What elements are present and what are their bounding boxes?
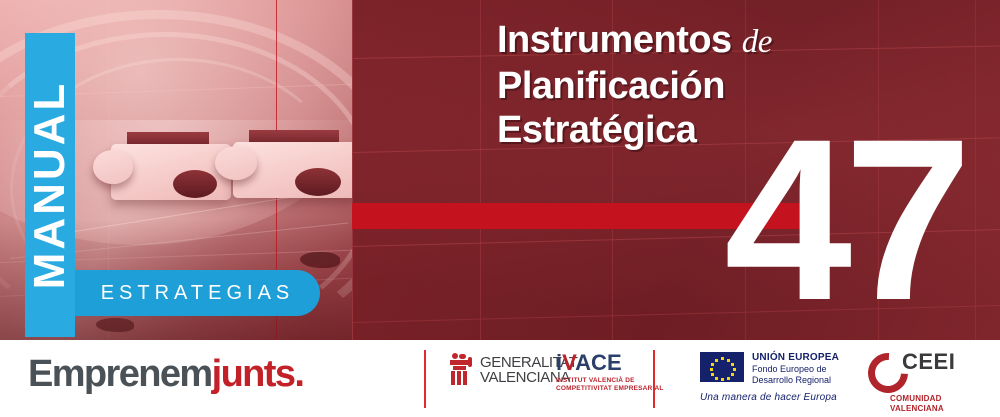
title-line-1: Instrumentos de [497, 18, 967, 64]
ivace-wordmark: iVACE [556, 352, 664, 374]
manual-label: MANUAL [25, 81, 75, 290]
ivace-sub-line-2: COMPETITIVITAT EMPRESARIAL [556, 385, 664, 393]
title-word-instrumentos: Instrumentos [497, 19, 732, 61]
eu-title: UNIÓN EUROPEA [752, 352, 839, 364]
emprenemjunts-logo[interactable]: Emprenemjunts. [28, 353, 303, 396]
cover-page: MANUAL ESTRATEGIAS Instrumentos de Plani… [0, 0, 1000, 417]
generalitat-crest-icon [448, 353, 474, 387]
footer-bar: Emprenemjunts. GENERALITAT VALENCIANA iV… [0, 340, 1000, 417]
manual-side-band: MANUAL [25, 33, 75, 337]
ceei-region-line-2: VALENCIANA [890, 404, 969, 413]
title-word-de: de [742, 24, 772, 60]
ivace-letter-v: V [562, 350, 575, 375]
ceei-wordmark: CEEI [902, 351, 955, 373]
eu-tagline: Una manera de hacer Europa [700, 392, 839, 403]
eu-sub-line-2: Desarrollo Regional [752, 375, 839, 386]
estrategias-label: ESTRATEGIAS [101, 282, 295, 305]
issue-number: 47 [724, 120, 964, 320]
estrategias-badge: ESTRATEGIAS [75, 270, 320, 316]
ivace-sub-line-1: INSTITUT VALENCIÀ DE [556, 377, 664, 385]
brand-part-junts: junts. [212, 353, 304, 395]
european-union-logo[interactable]: UNIÓN EUROPEA Fondo Europeo de Desarroll… [700, 352, 839, 403]
eu-flag-icon [700, 352, 744, 382]
ivace-subtitle: INSTITUT VALENCIÀ DE COMPETITIVITAT EMPR… [556, 377, 664, 393]
ceei-region-line-1: COMUNIDAD [890, 394, 969, 403]
eu-sub-line-1: Fondo Europeo de [752, 364, 839, 375]
footer-divider-1 [424, 350, 426, 408]
brand-part-emprenem: Emprenem [28, 353, 212, 395]
footer-divider-2 [653, 350, 655, 408]
ivace-logo[interactable]: iVACE INSTITUT VALENCIÀ DE COMPETITIVITA… [556, 352, 664, 393]
ivace-letters-ace: ACE [575, 350, 621, 375]
ceei-logo[interactable]: CEEI COMUNIDAD VALENCIANA CENTROS EUROPE… [868, 351, 969, 417]
